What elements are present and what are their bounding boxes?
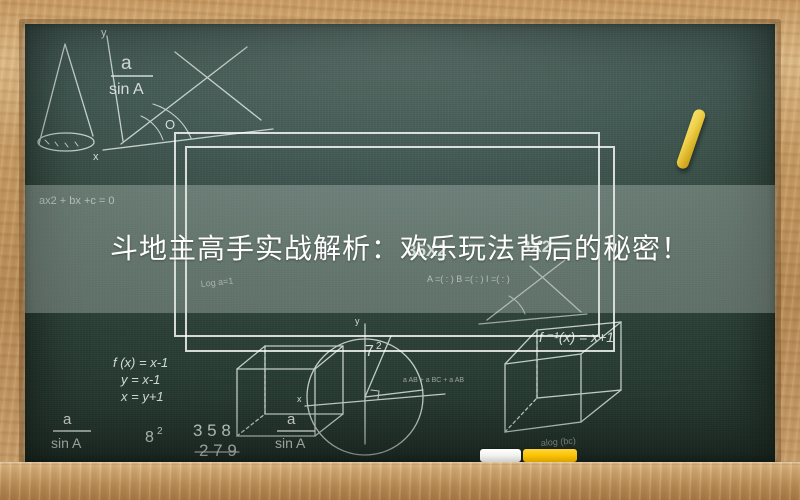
ledge-wood-grain: [0, 462, 800, 500]
frame-inner-bevel: [22, 22, 778, 462]
ledge-white-chalk: [480, 449, 521, 462]
blackboard-banner: a sin A y x O ax2 + bx +c = 0 f (x) = x-…: [0, 0, 800, 500]
ledge-yellow-chalk: [523, 449, 577, 462]
chalk-ledge: [0, 462, 800, 500]
